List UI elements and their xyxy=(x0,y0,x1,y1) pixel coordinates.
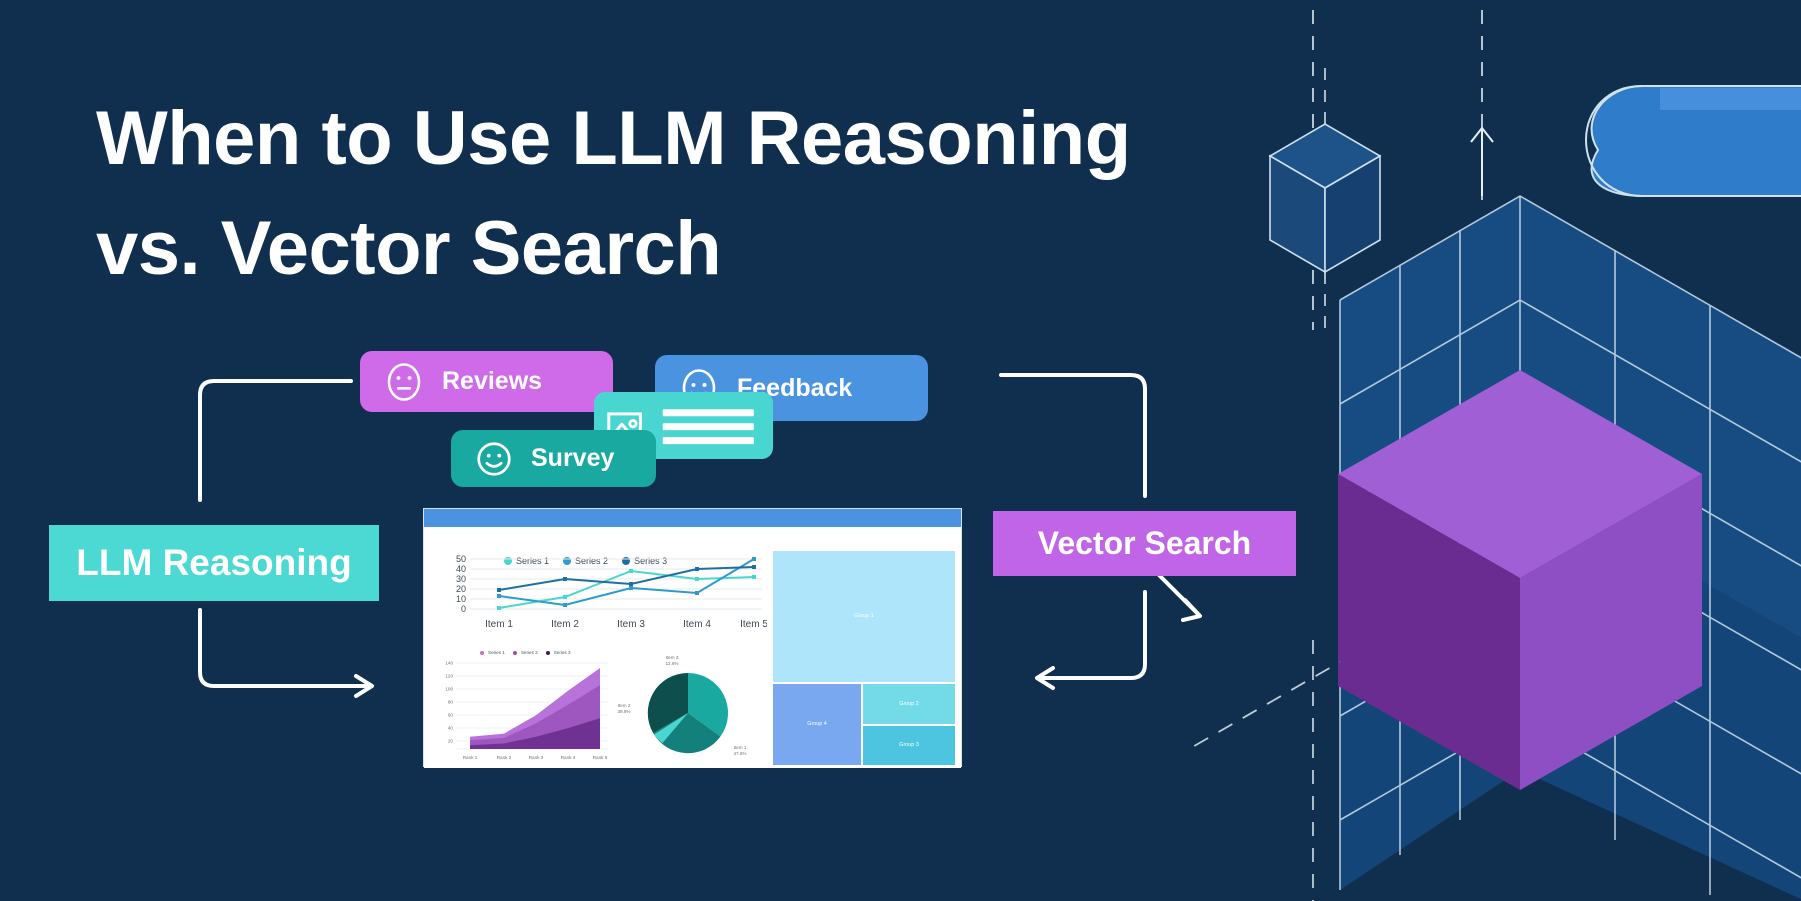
svg-text:Rank 2: Rank 2 xyxy=(497,755,512,760)
dashboard-body: Series 1 Series 2 Series 3 xyxy=(424,527,961,768)
label-vector-search-text: Vector Search xyxy=(1038,525,1251,562)
area-chart-yticks: 140 120 100 80 60 40 20 xyxy=(445,661,453,744)
chip-reviews-label: Reviews xyxy=(442,367,542,396)
svg-text:Item 2: Item 2 xyxy=(551,619,579,630)
svg-text:Item 4: Item 4 xyxy=(683,619,711,630)
dashboard-panel: Series 1 Series 2 Series 3 xyxy=(423,508,962,767)
label-llm-reasoning: LLM Reasoning xyxy=(49,525,379,601)
svg-text:100: 100 xyxy=(445,687,453,692)
svg-text:40: 40 xyxy=(456,564,466,574)
svg-text:Item 5: Item 5 xyxy=(740,619,767,630)
treemap-chart: Group 1 Group 4 Group 2 Group 3 xyxy=(773,551,955,765)
label-vector-search: Vector Search xyxy=(993,511,1296,576)
neutral-face-icon xyxy=(382,360,426,404)
svg-text:60: 60 xyxy=(448,713,454,718)
svg-text:30: 30 xyxy=(456,574,466,584)
svg-text:0: 0 xyxy=(461,604,466,614)
treemap-cell-group-2: Group 2 xyxy=(863,684,955,724)
svg-text:Item 3: Item 3 xyxy=(617,619,645,630)
svg-text:40: 40 xyxy=(448,726,454,731)
svg-text:Rank 3: Rank 3 xyxy=(529,755,544,760)
line-chart-xticks: Item 1 Item 2 Item 3 Item 4 Item 5 xyxy=(485,619,767,630)
area-chart: 140 120 100 80 60 40 20 Rank 1 Rank 2 Ra… xyxy=(432,645,612,765)
svg-text:Item 1: Item 1 xyxy=(734,745,747,750)
svg-text:140: 140 xyxy=(445,661,453,666)
dashboard-titlebar xyxy=(424,509,961,527)
svg-text:20: 20 xyxy=(456,584,466,594)
treemap-cell-group-3: Group 3 xyxy=(863,726,955,765)
svg-text:Item 3: Item 3 xyxy=(666,655,679,660)
area-chart-xticks: Rank 1 Rank 2 Rank 3 Rank 4 Rank 5 xyxy=(463,755,608,760)
svg-text:20: 20 xyxy=(448,739,454,744)
pie-chart: Item 3 12.6% Item 2 39.8% Item 1 47.6% xyxy=(610,649,770,767)
svg-text:50: 50 xyxy=(456,554,466,564)
svg-text:47.6%: 47.6% xyxy=(733,751,746,756)
svg-text:Rank 5: Rank 5 xyxy=(593,755,608,760)
hero-banner: When to Use LLM Reasoning vs. Vector Sea… xyxy=(0,0,1801,901)
smiley-face-icon xyxy=(473,438,515,480)
treemap-cell-group-4: Group 4 xyxy=(773,684,861,765)
label-llm-reasoning-text: LLM Reasoning xyxy=(76,542,351,584)
svg-text:Rank 1: Rank 1 xyxy=(463,755,478,760)
svg-text:39.8%: 39.8% xyxy=(617,709,630,714)
chip-reviews: Reviews xyxy=(360,351,613,412)
svg-text:10: 10 xyxy=(456,594,466,604)
pie-slices xyxy=(648,673,728,753)
line-chart-gridlines xyxy=(470,559,762,609)
treemap-cell-group-1: Group 1 xyxy=(773,551,955,682)
svg-text:Rank 4: Rank 4 xyxy=(561,755,576,760)
svg-text:80: 80 xyxy=(448,700,454,705)
chip-survey: Survey xyxy=(451,430,656,487)
page-title-line-2: vs. Vector Search xyxy=(96,194,1396,304)
svg-text:Item 2: Item 2 xyxy=(618,703,631,708)
svg-text:Item 1: Item 1 xyxy=(485,619,513,630)
text-lines-icon xyxy=(659,402,761,450)
svg-text:120: 120 xyxy=(445,674,453,679)
chip-survey-label: Survey xyxy=(531,444,614,473)
line-chart: 50 40 30 20 10 0 Item 1 Item 2 Item 3 It… xyxy=(432,549,767,639)
page-title-line-1: When to Use LLM Reasoning xyxy=(96,84,1396,194)
svg-text:12.6%: 12.6% xyxy=(665,661,678,666)
page-title: When to Use LLM Reasoning vs. Vector Sea… xyxy=(96,84,1396,304)
line-chart-yticks: 50 40 30 20 10 0 xyxy=(456,554,466,614)
